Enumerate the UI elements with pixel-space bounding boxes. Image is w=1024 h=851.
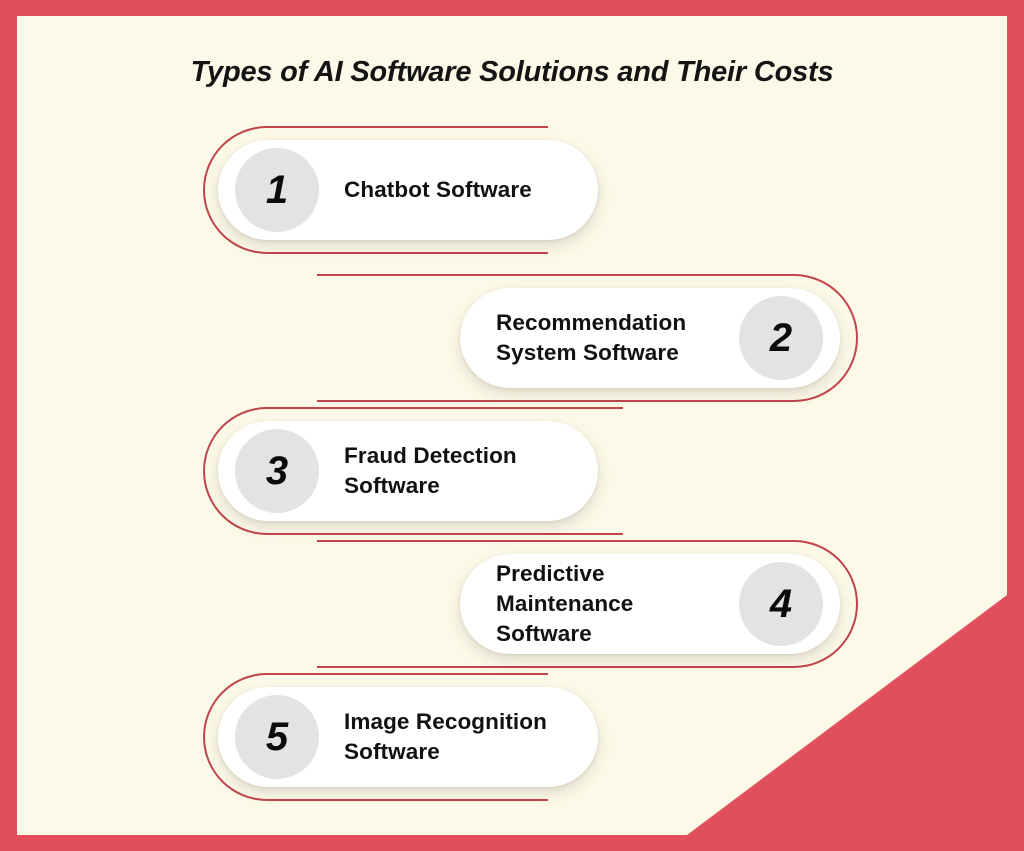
page-title: Types of AI Software Solutions and Their… [17,56,1007,89]
item-card[interactable]: 2 Recommendation System Software [460,288,840,388]
list-item[interactable]: 2 Recommendation System Software [17,260,1007,402]
item-number-badge: 1 [235,148,319,232]
item-number-badge: 3 [235,429,319,513]
infographic-poster: Types of AI Software Solutions and Their… [0,0,1024,851]
item-label: Chatbot Software [344,175,562,205]
item-label: Predictive Maintenance Software [496,559,714,648]
list-item[interactable]: 4 Predictive Maintenance Software [17,526,1007,668]
item-card[interactable]: 4 Predictive Maintenance Software [460,554,840,654]
item-label: Recommendation System Software [496,308,714,367]
item-label: Image Recognition Software [344,707,562,766]
item-number-badge: 5 [235,695,319,779]
list-item[interactable]: 1 Chatbot Software [17,112,1007,254]
item-card[interactable]: 5 Image Recognition Software [218,687,598,787]
item-card[interactable]: 1 Chatbot Software [218,140,598,240]
item-card[interactable]: 3 Fraud Detection Software [218,421,598,521]
list-item[interactable]: 3 Fraud Detection Software [17,393,1007,535]
list-item[interactable]: 5 Image Recognition Software [17,659,1007,801]
item-list: 1 Chatbot Software 2 Recommendation Syst… [17,112,1007,812]
item-label: Fraud Detection Software [344,441,562,500]
poster-canvas: Types of AI Software Solutions and Their… [17,16,1007,835]
item-number-badge: 2 [739,296,823,380]
item-number-badge: 4 [739,562,823,646]
